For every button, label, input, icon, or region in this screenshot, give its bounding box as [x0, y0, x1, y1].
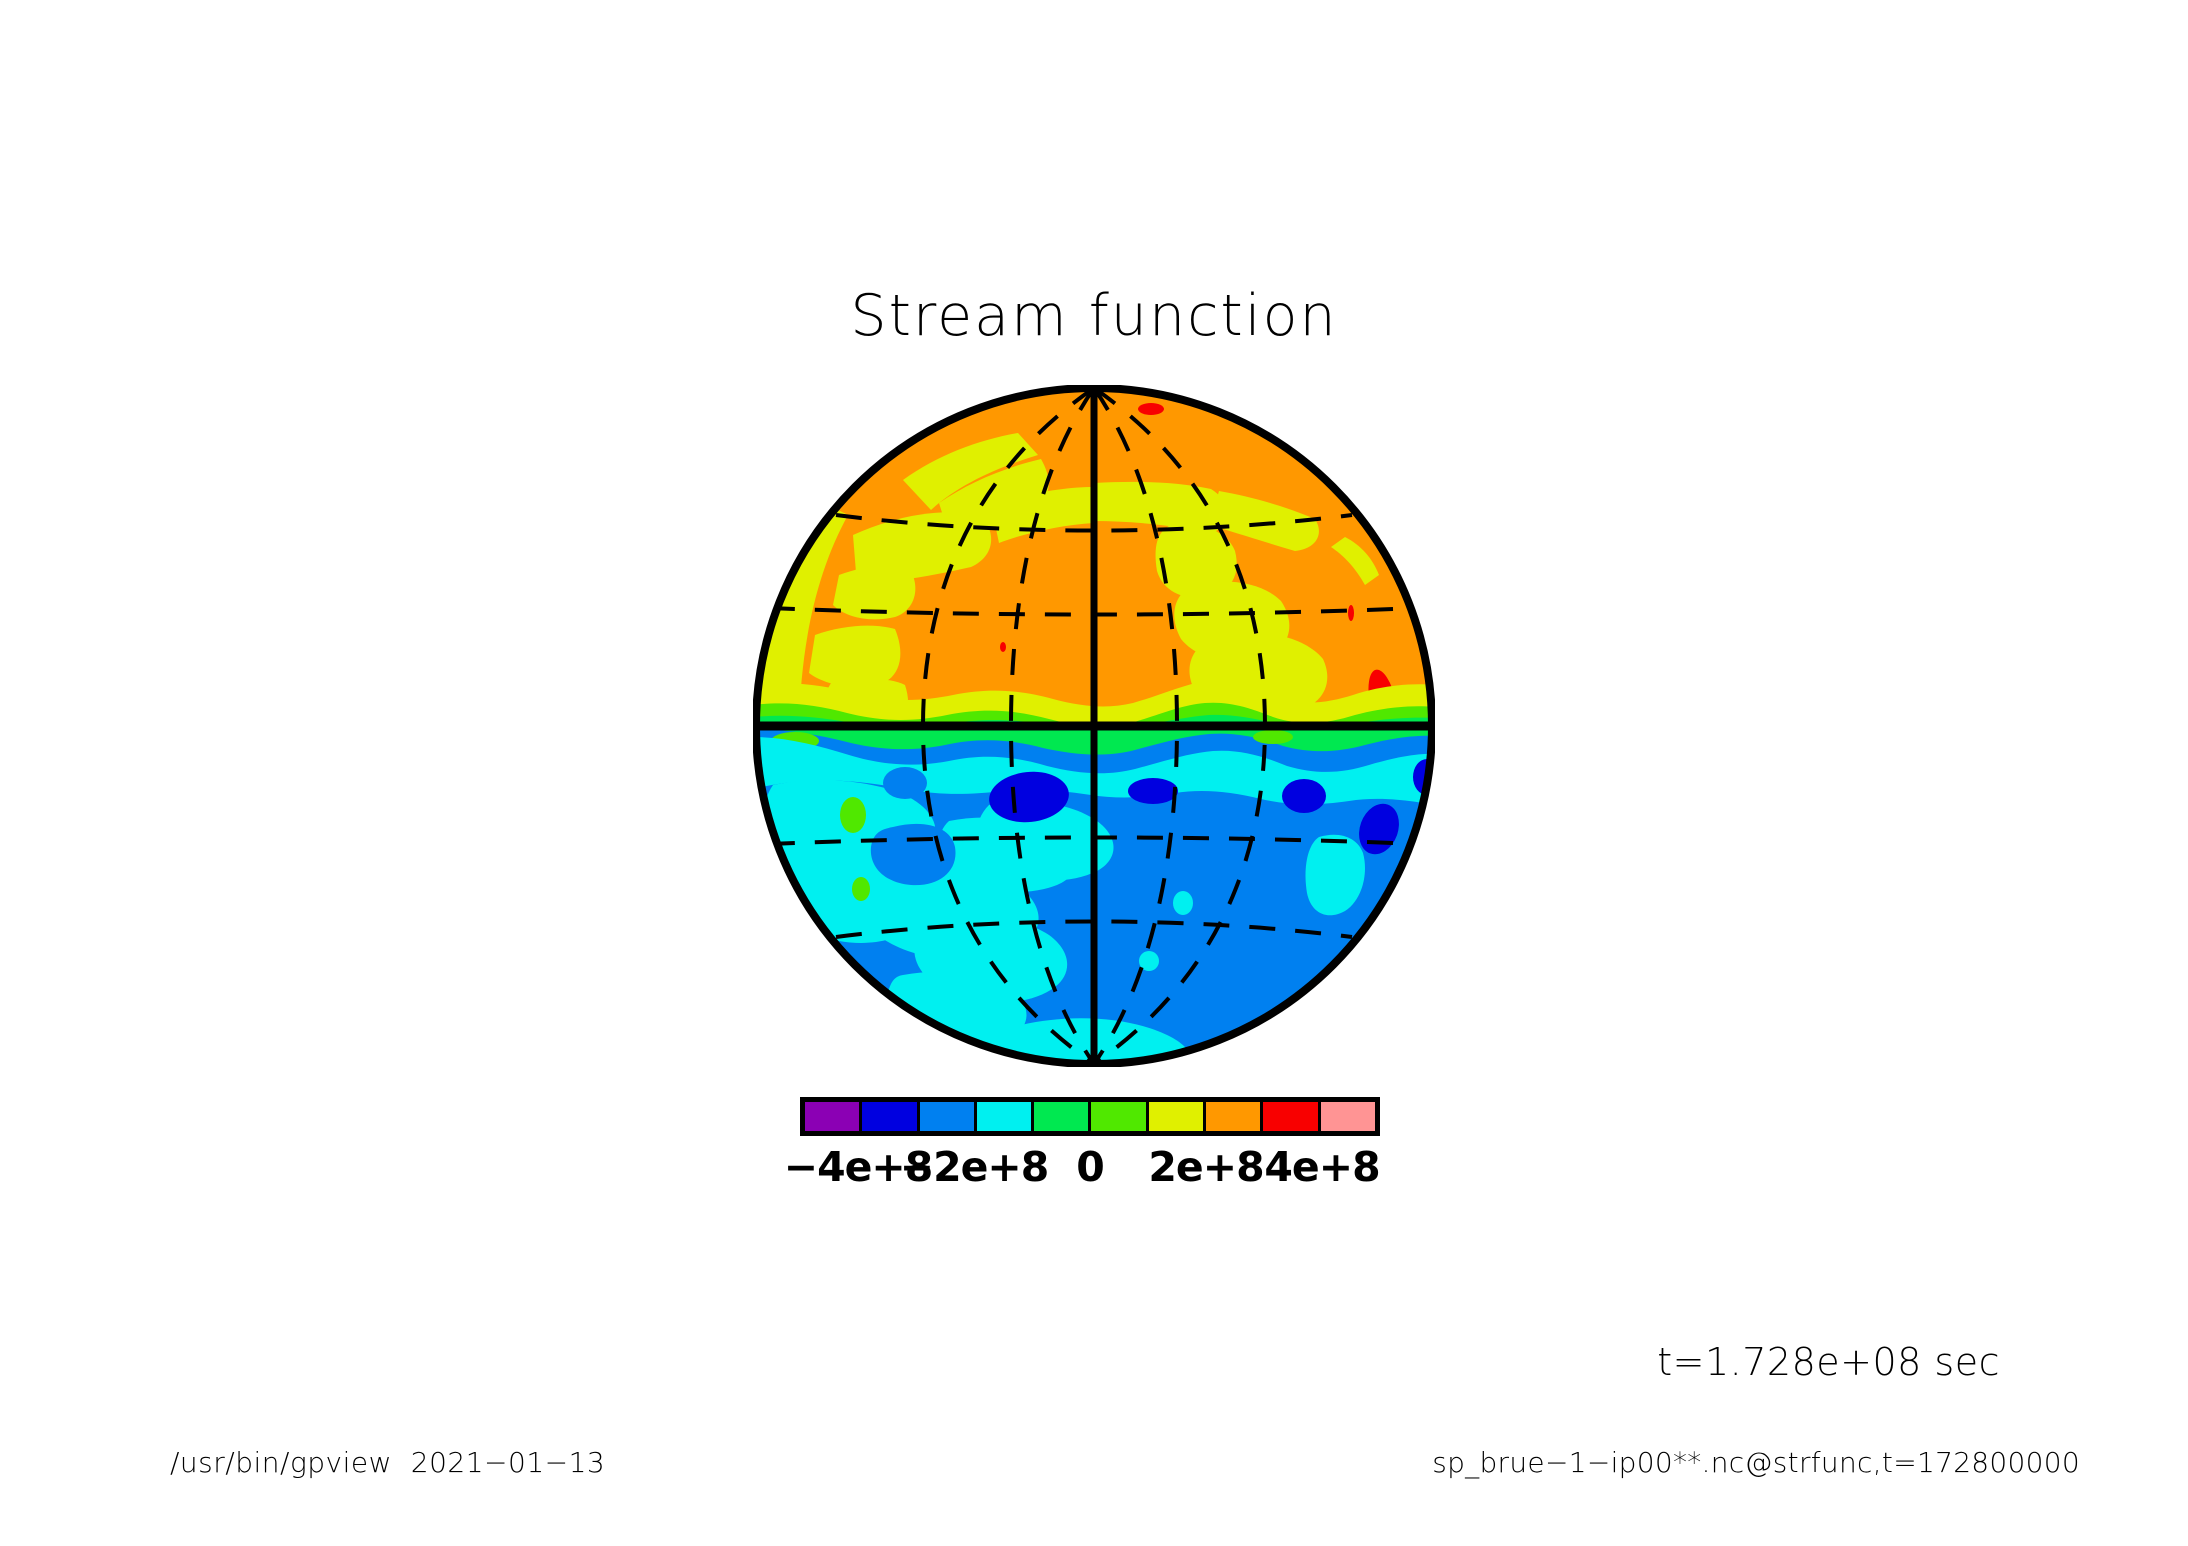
- colorbar-swatch-yellow: [1149, 1102, 1206, 1131]
- footer-command-date: /usr/bin/gpview 2021−01−13: [170, 1446, 605, 1479]
- colorbar-swatch-spring-green: [1034, 1102, 1091, 1131]
- globe-svg: [753, 385, 1435, 1067]
- plot-canvas: Stream function: [0, 0, 2188, 1546]
- colorbar-swatch-pink: [1321, 1102, 1375, 1131]
- globe-map: [753, 385, 1435, 1067]
- colorbar: [800, 1097, 1380, 1136]
- colorbar-swatch-orange: [1206, 1102, 1263, 1131]
- colorbar-swatch-purple: [805, 1102, 862, 1131]
- colorbar-tick-labels: −4e+8−2e+802e+84e+8: [800, 1143, 1380, 1189]
- colorbar-swatch-light-blue: [920, 1102, 977, 1131]
- colorbar-swatch-cyan: [977, 1102, 1034, 1131]
- colorbar-swatch-green: [1091, 1102, 1148, 1131]
- colorbar-tick-label-4: 4e+8: [1264, 1143, 1379, 1191]
- colorbar-swatch-red: [1263, 1102, 1320, 1131]
- colorbar-tick-label-2: 0: [1076, 1143, 1104, 1191]
- colorbar-swatch-blue: [862, 1102, 919, 1131]
- footer-source-file: sp_brue−1−ip00**.nc@strfunc,t=172800000: [1432, 1446, 2080, 1479]
- page-title: Stream function: [0, 283, 2188, 349]
- time-annotation: t=1.728e+08 sec: [1657, 1340, 2000, 1384]
- colorbar-tick-label-3: 2e+8: [1148, 1143, 1263, 1191]
- colorbar-tick-label-1: −2e+8: [900, 1143, 1049, 1191]
